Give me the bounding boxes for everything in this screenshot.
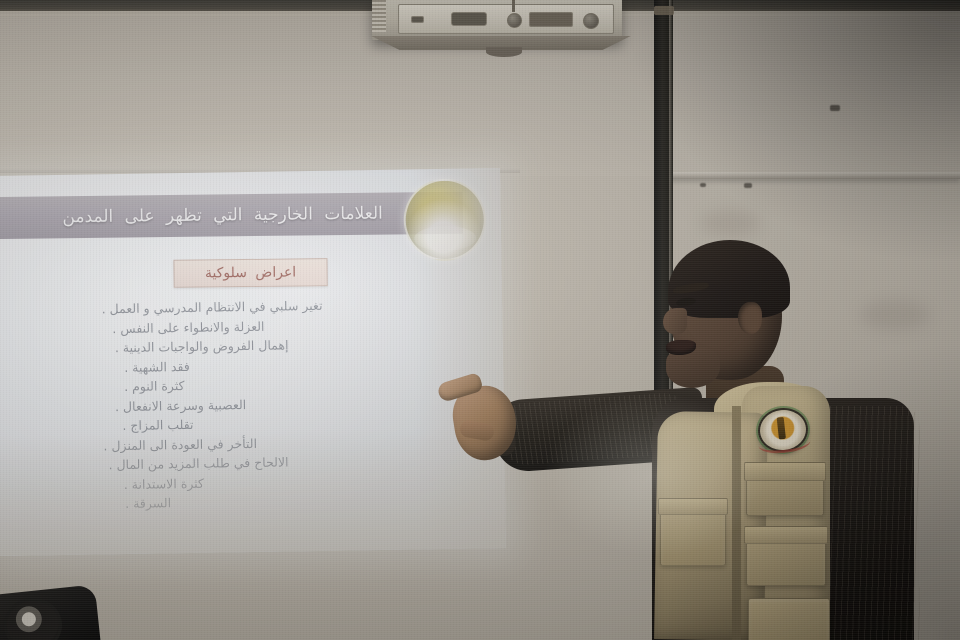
projector-vent <box>372 0 386 32</box>
screenshot-scene: العلامات الخارجية التي تظهر على المدمن ا… <box>0 0 960 640</box>
slide-subtitle: اعراض سلوكية <box>205 265 296 282</box>
projected-slide: العلامات الخارجية التي تظهر على المدمن ا… <box>0 168 506 556</box>
slide-bullet-list: تغير سلبي في الانتظام المدرسي و العمل . … <box>0 294 469 516</box>
slide-title-bar: العلامات الخارجية التي تظهر على المدمن <box>0 192 463 239</box>
audio-jack[interactable] <box>507 13 522 28</box>
power-port[interactable] <box>583 13 599 29</box>
usb-port[interactable] <box>529 12 573 27</box>
corner-shadow-top-right <box>630 0 960 260</box>
vga-port[interactable] <box>451 12 487 26</box>
corner-shadow-bottom-right <box>660 340 960 640</box>
slide-subtitle-box: اعراض سلوكية <box>173 258 327 288</box>
projector-port-small[interactable] <box>411 16 424 23</box>
presenter-nose <box>663 308 687 334</box>
projector-cable <box>512 0 515 12</box>
projector-connector-panel <box>398 4 614 34</box>
projector-lens-housing <box>486 47 522 57</box>
presenter-ear <box>738 302 762 334</box>
slide-title: العلامات الخارجية التي تظهر على المدمن <box>62 204 383 228</box>
